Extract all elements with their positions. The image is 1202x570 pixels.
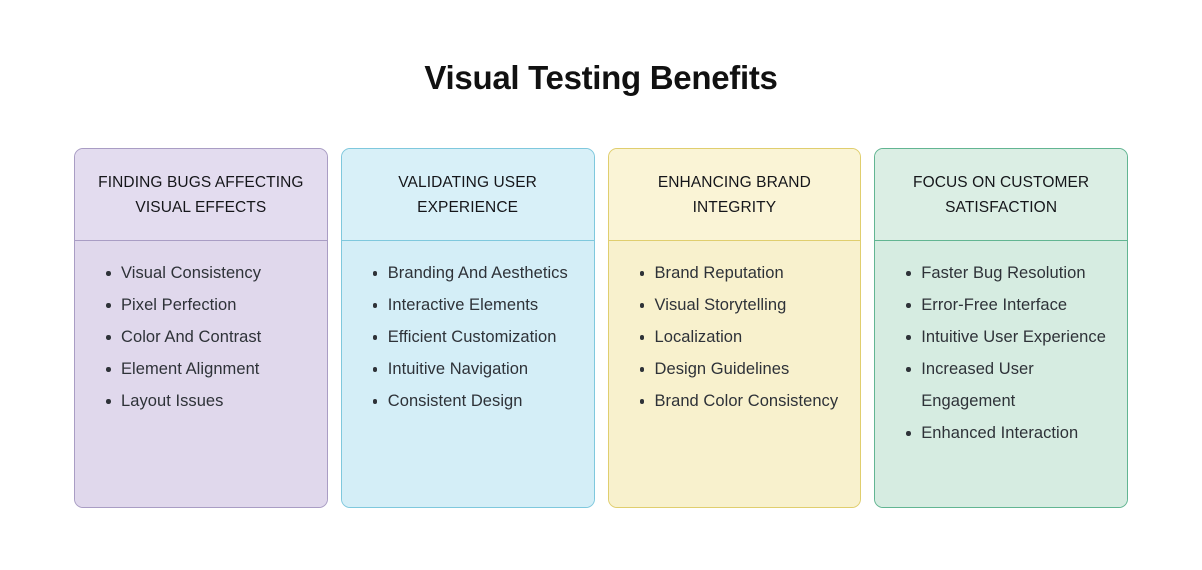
benefit-card-focus-on-customer-satisfaction: FOCUS ON CUSTOMER SATISFACTION Faster Bu… xyxy=(874,148,1128,508)
list-item: Visual Storytelling xyxy=(655,289,853,321)
list-item: Layout Issues xyxy=(121,385,319,417)
list-item: Pixel Perfection xyxy=(121,289,319,321)
card-body: Faster Bug Resolution Error-Free Interfa… xyxy=(875,241,1127,507)
card-header-title: FOCUS ON CUSTOMER SATISFACTION xyxy=(875,149,1127,241)
list-item: Color And Contrast xyxy=(121,321,319,353)
card-header-title: VALIDATING USER EXPERIENCE xyxy=(342,149,594,241)
list-item: Enhanced Interaction xyxy=(921,417,1119,449)
list-item: Design Guidelines xyxy=(655,353,853,385)
list-item: Intuitive Navigation xyxy=(388,353,586,385)
benefit-card-finding-bugs: FINDING BUGS AFFECTING VISUAL EFFECTS Vi… xyxy=(74,148,328,508)
benefit-card-grid: FINDING BUGS AFFECTING VISUAL EFFECTS Vi… xyxy=(74,148,1128,508)
list-item: Brand Reputation xyxy=(655,257,853,289)
list-item: Error-Free Interface xyxy=(921,289,1119,321)
list-item: Visual Consistency xyxy=(121,257,319,289)
list-item: Interactive Elements xyxy=(388,289,586,321)
benefit-card-enhancing-brand-integrity: ENHANCING BRAND INTEGRITY Brand Reputati… xyxy=(608,148,862,508)
infographic-page: Visual Testing Benefits FINDING BUGS AFF… xyxy=(0,0,1202,570)
benefit-card-validating-user-experience: VALIDATING USER EXPERIENCE Branding And … xyxy=(341,148,595,508)
benefit-list: Branding And Aesthetics Interactive Elem… xyxy=(350,257,586,417)
list-item: Faster Bug Resolution xyxy=(921,257,1119,289)
card-header-title: FINDING BUGS AFFECTING VISUAL EFFECTS xyxy=(75,149,327,241)
list-item: Branding And Aesthetics xyxy=(388,257,586,289)
list-item: Element Alignment xyxy=(121,353,319,385)
card-body: Branding And Aesthetics Interactive Elem… xyxy=(342,241,594,507)
benefit-list: Brand Reputation Visual Storytelling Loc… xyxy=(617,257,853,417)
card-body: Brand Reputation Visual Storytelling Loc… xyxy=(609,241,861,507)
page-title: Visual Testing Benefits xyxy=(0,58,1202,98)
list-item: Efficient Customization xyxy=(388,321,586,353)
list-item: Intuitive User Experience xyxy=(921,321,1119,353)
list-item: Localization xyxy=(655,321,853,353)
benefit-list: Visual Consistency Pixel Perfection Colo… xyxy=(83,257,319,417)
benefit-list: Faster Bug Resolution Error-Free Interfa… xyxy=(883,257,1119,449)
card-body: Visual Consistency Pixel Perfection Colo… xyxy=(75,241,327,507)
list-item: Brand Color Consistency xyxy=(655,385,853,417)
card-header-title: ENHANCING BRAND INTEGRITY xyxy=(609,149,861,241)
list-item: Consistent Design xyxy=(388,385,586,417)
list-item: Increased User Engagement xyxy=(921,353,1119,417)
